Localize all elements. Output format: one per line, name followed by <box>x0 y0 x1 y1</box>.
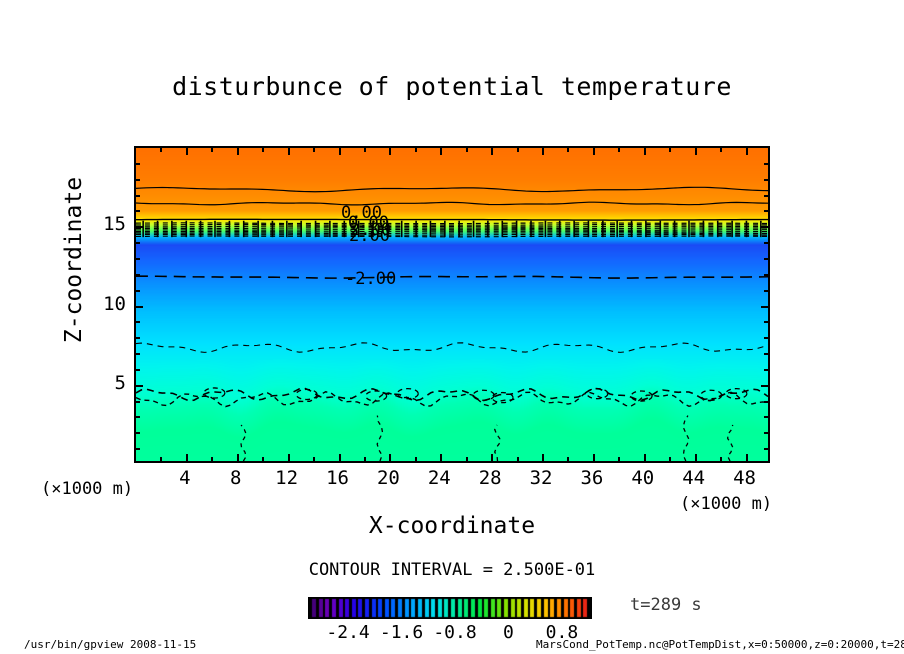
y-axis-minor-tick <box>136 369 140 371</box>
x-axis-minor-tick-top <box>517 148 519 152</box>
colorbar-tick-label: -2.4 <box>323 622 373 643</box>
y-axis-minor-tick <box>136 432 140 434</box>
x-axis-minor-tick <box>567 457 569 461</box>
x-axis-minor-tick-top <box>262 148 264 152</box>
x-axis-minor-tick <box>211 457 213 461</box>
y-axis-minor-tick-right <box>764 369 768 371</box>
y-tick-label: 10 <box>84 293 126 315</box>
contour-label: 2.00 <box>349 226 390 246</box>
y-axis-tick <box>136 306 143 308</box>
x-axis-minor-tick-top <box>466 148 468 152</box>
y-tick-label: 15 <box>84 213 126 235</box>
x-axis-tick <box>288 454 290 461</box>
y-axis-minor-tick-right <box>764 195 768 197</box>
y-axis-minor-tick-right <box>764 401 768 403</box>
x-axis-minor-tick <box>262 457 264 461</box>
x-tick-label: 40 <box>623 467 663 489</box>
y-axis-minor-tick-right <box>764 416 768 418</box>
x-tick-label: 32 <box>521 467 561 489</box>
y-axis-minor-tick <box>136 195 140 197</box>
x-axis-tick <box>542 454 544 461</box>
x-axis-tick-top <box>288 148 290 155</box>
x-axis-tick <box>644 454 646 461</box>
x-axis-tick-top <box>542 148 544 155</box>
y-axis-tick <box>136 385 143 387</box>
x-axis-tick-top <box>339 148 341 155</box>
x-axis-minor-tick-top <box>669 148 671 152</box>
colorbar-tick-label: -0.8 <box>430 622 480 643</box>
x-axis-minor-tick-top <box>567 148 569 152</box>
y-tick-label: 5 <box>84 372 126 394</box>
y-axis-minor-tick <box>136 274 140 276</box>
x-tick-label: 36 <box>572 467 612 489</box>
x-axis-minor-tick <box>313 457 315 461</box>
x-tick-label: 24 <box>419 467 459 489</box>
y-axis-minor-tick-right <box>764 274 768 276</box>
x-axis-tick <box>186 454 188 461</box>
x-unit-left-label: (×1000 m) <box>41 479 133 499</box>
colorbar-gradient <box>308 597 592 619</box>
y-axis-minor-tick <box>136 321 140 323</box>
colorbar <box>308 597 592 619</box>
page-title: disturbunce of potential temperature <box>0 72 904 101</box>
y-axis-minor-tick <box>136 416 140 418</box>
y-axis-title: Z-coordinate <box>61 160 87 360</box>
x-axis-tick-top <box>644 148 646 155</box>
x-axis-tick <box>491 454 493 461</box>
y-axis-minor-tick <box>136 337 140 339</box>
x-tick-label: 12 <box>267 467 307 489</box>
colorbar-tick-label: 0 <box>483 622 533 643</box>
x-axis-tick-top <box>491 148 493 155</box>
y-axis-minor-tick <box>136 448 140 450</box>
y-axis-tick-right <box>761 226 768 228</box>
footer-dataset: MarsCond_PotTemp.nc@PotTempDist,x=0:5000… <box>536 638 904 651</box>
x-axis-tick-top <box>237 148 239 155</box>
x-axis-minor-tick <box>415 457 417 461</box>
x-axis-minor-tick <box>160 457 162 461</box>
x-axis-tick-top <box>695 148 697 155</box>
y-axis-minor-tick <box>136 242 140 244</box>
x-axis-title: X-coordinate <box>134 513 770 539</box>
x-axis-minor-tick <box>466 457 468 461</box>
contour-lines-overlay <box>136 148 768 461</box>
x-axis-tick <box>237 454 239 461</box>
x-tick-label: 28 <box>470 467 510 489</box>
y-axis-minor-tick-right <box>764 448 768 450</box>
colorbar-tick-label: -1.6 <box>377 622 427 643</box>
x-axis-tick <box>440 454 442 461</box>
y-axis-minor-tick-right <box>764 353 768 355</box>
x-axis-minor-tick <box>364 457 366 461</box>
x-axis-tick <box>339 454 341 461</box>
plot-area <box>134 146 770 463</box>
x-axis-minor-tick-top <box>415 148 417 152</box>
x-axis-minor-tick <box>669 457 671 461</box>
x-axis-tick <box>593 454 595 461</box>
x-axis-minor-tick-top <box>720 148 722 152</box>
y-axis-tick <box>136 226 143 228</box>
x-unit-right-label: (×1000 m) <box>680 494 772 514</box>
x-axis-tick-top <box>593 148 595 155</box>
y-axis-minor-tick-right <box>764 432 768 434</box>
x-tick-label: 44 <box>674 467 714 489</box>
y-axis-minor-tick <box>136 353 140 355</box>
y-axis-minor-tick-right <box>764 290 768 292</box>
y-axis-minor-tick-right <box>764 321 768 323</box>
x-axis-minor-tick-top <box>160 148 162 152</box>
y-axis-minor-tick-right <box>764 337 768 339</box>
x-tick-label: 20 <box>368 467 408 489</box>
x-axis-tick <box>695 454 697 461</box>
y-axis-minor-tick-right <box>764 210 768 212</box>
x-tick-label: 16 <box>318 467 358 489</box>
time-annotation: t=289 s <box>630 595 702 615</box>
x-axis-tick <box>746 454 748 461</box>
x-axis-tick <box>389 454 391 461</box>
x-axis-tick-top <box>440 148 442 155</box>
x-axis-tick-top <box>389 148 391 155</box>
x-axis-minor-tick <box>618 457 620 461</box>
x-axis-minor-tick-top <box>364 148 366 152</box>
y-axis-minor-tick <box>136 258 140 260</box>
y-axis-minor-tick-right <box>764 258 768 260</box>
x-axis-minor-tick-top <box>211 148 213 152</box>
y-axis-tick-right <box>761 385 768 387</box>
x-axis-minor-tick <box>517 457 519 461</box>
x-axis-minor-tick-top <box>618 148 620 152</box>
x-tick-label: 4 <box>165 467 205 489</box>
footer-command: /usr/bin/gpview 2008-11-15 <box>24 638 196 651</box>
y-axis-minor-tick-right <box>764 242 768 244</box>
y-axis-minor-tick-right <box>764 179 768 181</box>
y-axis-minor-tick <box>136 163 140 165</box>
y-axis-minor-tick <box>136 210 140 212</box>
contour-interval-label: CONTOUR INTERVAL = 2.500E-01 <box>0 560 904 580</box>
y-axis-minor-tick <box>136 179 140 181</box>
x-axis-minor-tick-top <box>313 148 315 152</box>
x-axis-tick-top <box>186 148 188 155</box>
y-axis-minor-tick <box>136 290 140 292</box>
y-axis-tick-right <box>761 306 768 308</box>
contour-label: -2.00 <box>345 269 396 289</box>
y-axis-minor-tick <box>136 401 140 403</box>
y-axis-minor-tick-right <box>764 163 768 165</box>
plot-page: disturbunce of potential temperature 481… <box>0 0 904 654</box>
x-axis-minor-tick <box>720 457 722 461</box>
x-tick-label: 48 <box>725 467 765 489</box>
x-axis-tick-top <box>746 148 748 155</box>
x-tick-label: 8 <box>216 467 256 489</box>
